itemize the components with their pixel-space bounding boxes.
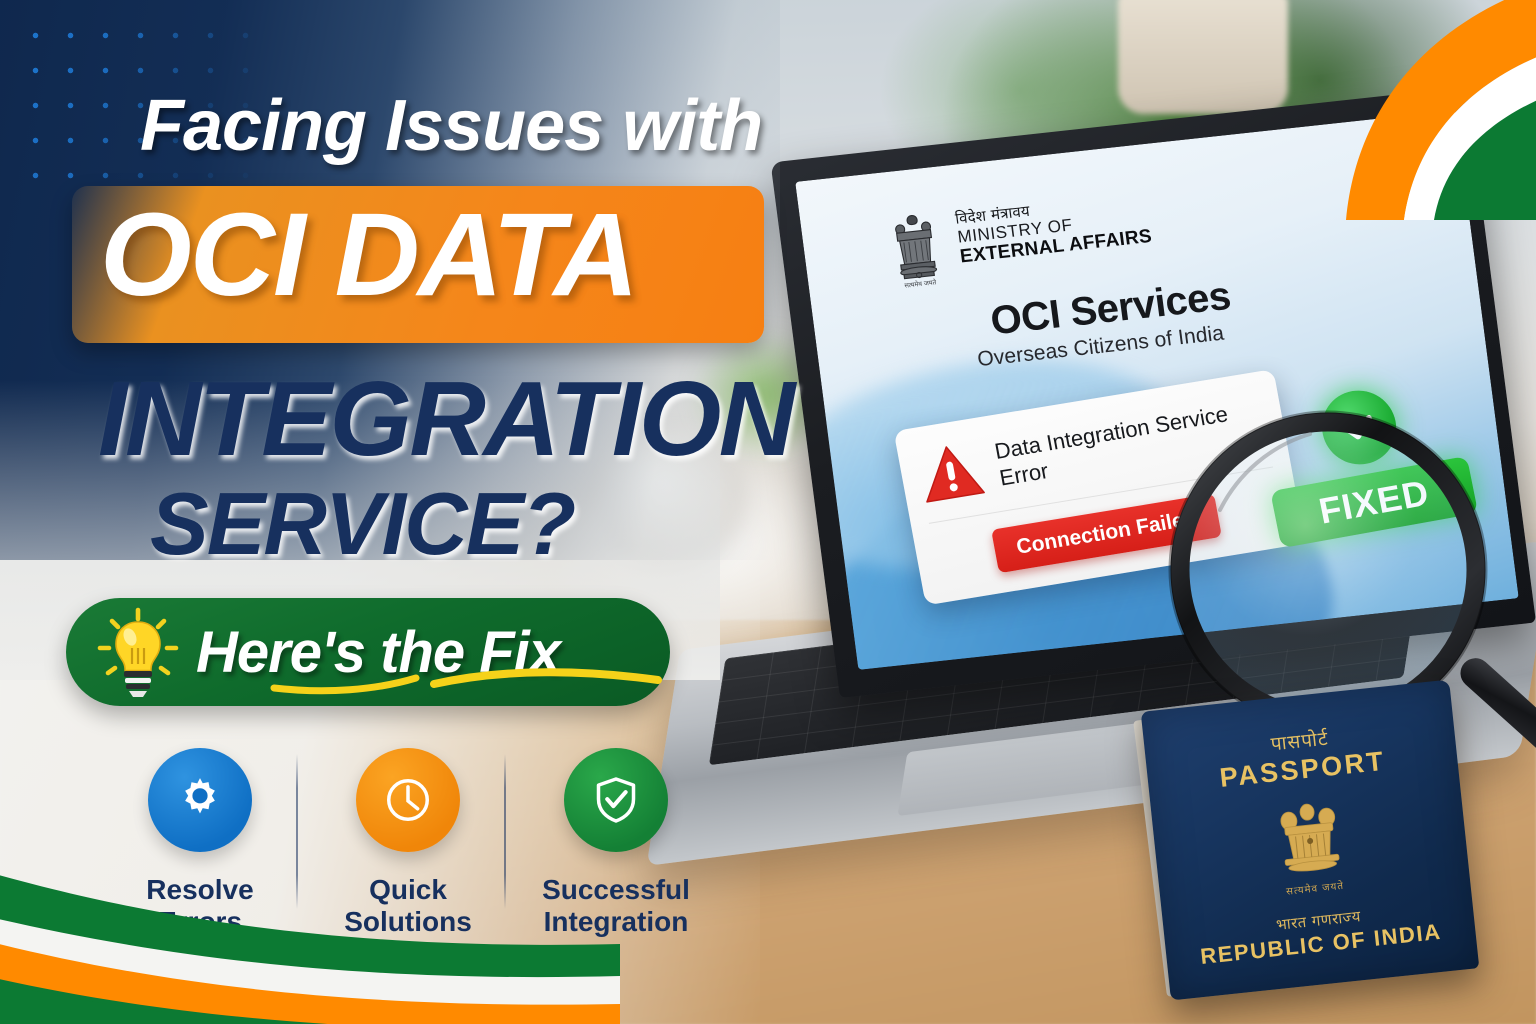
cta-underline-swoosh: [266, 660, 666, 700]
headline-line-1: Facing Issues with: [140, 85, 762, 167]
headline-line-4: SERVICE?: [150, 480, 574, 568]
indian-passport: पासपोर्ट PASSPORT सत्यमेव जयते भारत: [1141, 680, 1480, 1001]
india-state-emblem-icon: सत्यमेव जयते: [880, 206, 952, 292]
plant-pot: [1118, 0, 1288, 114]
tricolor-ribbon-top-right: [1286, 0, 1536, 220]
headline-line-3: INTEGRATION: [98, 366, 793, 472]
warning-triangle-icon: [915, 440, 986, 505]
passport-cover: पासपोर्ट PASSPORT सत्यमेव जयते भारत: [1141, 680, 1480, 1001]
cta-pill[interactable]: Here's the Fix: [66, 598, 670, 706]
headline-line-2: OCI DATA: [100, 196, 637, 314]
ministry-header: सत्यमेव जयते विदेश मंत्रावय MINISTRY OF …: [880, 167, 1329, 381]
poster-canvas: सत्यमेव जयते विदेश मंत्रावय MINISTRY OF …: [0, 0, 1536, 1024]
lightbulb-icon: [92, 604, 184, 700]
tricolor-ribbon-bottom-left: [0, 824, 620, 1024]
emblem-motto: सत्यमेव जयते: [904, 278, 937, 289]
india-state-emblem-icon: [1264, 797, 1356, 883]
